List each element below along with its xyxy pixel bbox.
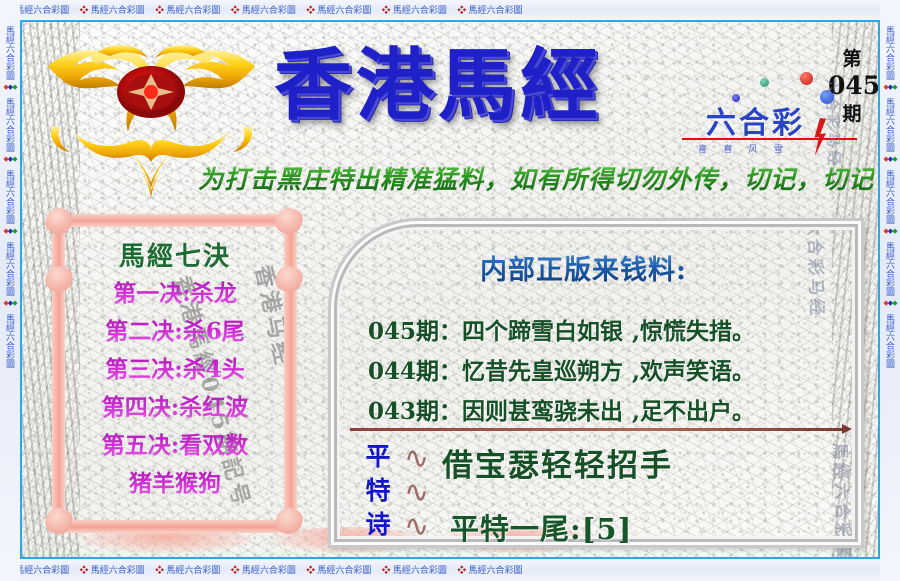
- border-text: 馬經六合彩圖: [15, 5, 69, 15]
- border-strip-bottom: ❖ 馬經六合彩圖 ❖ 馬經六合彩圖 ❖ 馬經六合彩圖 ❖ 馬經六合彩圖 ❖ 馬經…: [0, 559, 900, 581]
- money-line-issue: 044期：: [368, 358, 462, 385]
- border-text: 馬經六合彩圖: [885, 314, 895, 368]
- border-text: 馬經六合彩圖: [91, 5, 145, 15]
- left-panel: 馬經七決 第一决:杀龙 第二决:杀6尾 第三决:杀4头 第四决:杀红波 第五决:…: [44, 208, 306, 538]
- lotto-ball-red: [800, 72, 813, 85]
- tagline: 为打击黑庄特出精准猛料，如有所得切勿外传，切记，切记!: [198, 160, 874, 196]
- money-line-phrase: 忆昔先皇巡朔方: [462, 358, 623, 385]
- left-panel-item-1: 第一决:杀龙: [44, 274, 306, 308]
- page-title: 香港馬經: [274, 44, 602, 128]
- money-line-issue: 045期：: [368, 318, 462, 345]
- poem-main-line: 借宝瑟轻轻招手: [442, 440, 673, 485]
- border-text: 馬經六合彩圖: [468, 565, 522, 575]
- border-text: 馬經六合彩圖: [5, 98, 15, 152]
- poster-card: 香港馬經 六合彩 喜 喜 风 雪 第 045 期 为打击黑庄特出精准猛料，如有所…: [20, 20, 880, 559]
- lotto-logo-text: 六合彩: [706, 98, 805, 142]
- border-text: 馬經六合彩圖: [166, 5, 220, 15]
- left-panel-item-3: 第三决:杀4头: [44, 350, 306, 384]
- border-text: 馬經六合彩圖: [15, 565, 69, 575]
- border-strip-right: 馬經六合彩圖◆◆◆ 馬經六合彩圖◆◆◆ 馬經六合彩圖◆◆◆ 馬經六合彩圖◆◆◆ …: [880, 0, 900, 581]
- ribbon-knot-top-right: [272, 204, 305, 237]
- border-text: 馬經六合彩圖: [317, 565, 371, 575]
- money-line-note: ,欢声笑语。: [632, 358, 755, 385]
- border-text: 馬經六合彩圖: [5, 170, 15, 224]
- money-line-phrase: 四个蹄雪白如银: [462, 318, 623, 345]
- money-line-issue: 043期：: [368, 398, 462, 425]
- border-text: 馬經六合彩圖: [5, 26, 15, 80]
- ribbon-knot-top-left: [42, 204, 75, 237]
- poem-label-char-1: 平: [358, 440, 398, 474]
- left-panel-item-6: 猪羊猴狗: [44, 464, 306, 498]
- border-text: 馬經六合彩圖: [393, 5, 447, 15]
- border-text: 馬經六合彩圖: [317, 5, 371, 15]
- border-text: 馬經六合彩圖: [5, 314, 15, 368]
- border-text: 馬經六合彩圖: [885, 98, 895, 152]
- issue-suffix: 期: [828, 102, 876, 126]
- poem-label-char-3: 诗: [358, 508, 398, 542]
- border-strip-top: ❖ 馬經六合彩圖 ❖ 馬經六合彩圖 ❖ 馬經六合彩圖 ❖ 馬經六合彩圖 ❖ 馬經…: [0, 0, 900, 20]
- left-panel-item-4: 第四决:杀红波: [44, 388, 306, 422]
- left-panel-item-5: 第五决:看双数: [44, 426, 306, 460]
- border-text: 馬經六合彩圖: [166, 565, 220, 575]
- border-text: 馬經六合彩圖: [393, 565, 447, 575]
- issue-prefix: 第: [828, 48, 876, 70]
- lotto-logo-subtext: 喜 喜 风 雪: [698, 142, 790, 155]
- poem-label-char-2: 特: [358, 474, 398, 508]
- issue-number: 045: [828, 70, 876, 102]
- border-strip-left: 馬經六合彩圖◆◆◆ 馬經六合彩圖◆◆◆ 馬經六合彩圖◆◆◆ 馬經六合彩圖◆◆◆ …: [0, 0, 20, 581]
- border-text: 馬經六合彩圖: [468, 5, 522, 15]
- issue-badge: 第 045 期: [828, 48, 876, 126]
- border-text: 馬經六合彩圖: [242, 565, 296, 575]
- poem-label-vertical: 平 特 诗: [358, 440, 398, 542]
- left-panel-item-2: 第二决:杀6尾: [44, 312, 306, 346]
- money-lines-heading: 内部正版来钱料:: [480, 248, 687, 287]
- lotto-logo-rule: [682, 138, 857, 140]
- border-text: 馬經六合彩圖: [885, 242, 895, 296]
- border-text: 馬經六合彩圖: [5, 242, 15, 296]
- money-line-1: 045期：四个蹄雪白如银,惊慌失措。: [368, 312, 755, 346]
- ribbon-frame-bottom: [58, 520, 292, 533]
- money-line-2: 044期：忆昔先皇巡朔方,欢声笑语。: [368, 352, 755, 386]
- money-line-note: ,惊慌失措。: [632, 318, 755, 345]
- border-text: 馬經六合彩圖: [885, 26, 895, 80]
- left-panel-title: 馬經七決: [44, 236, 306, 273]
- border-text: 馬經六合彩圖: [242, 5, 296, 15]
- flourish-decoration: ∿∿∿: [404, 442, 438, 550]
- border-text: 馬經六合彩圖: [91, 565, 145, 575]
- money-line-phrase: 因则甚鸾骁未出: [462, 398, 623, 425]
- ribbon-frame-top: [58, 214, 292, 227]
- page-root: ❖ 馬經六合彩圖 ❖ 馬經六合彩圖 ❖ 馬經六合彩圖 ❖ 馬經六合彩圖 ❖ 馬經…: [0, 0, 900, 581]
- poem-tail-line: 平特一尾:[5]: [450, 506, 632, 548]
- lotto-ball-green: [760, 78, 769, 87]
- lightning-bolt-icon: [810, 118, 826, 156]
- money-line-note: ,足不出户。: [632, 398, 755, 425]
- section-divider-arrow: [350, 428, 844, 431]
- money-line-3: 043期：因则甚鸾骁未出,足不出户。: [368, 392, 755, 426]
- border-text: 馬經六合彩圖: [885, 170, 895, 224]
